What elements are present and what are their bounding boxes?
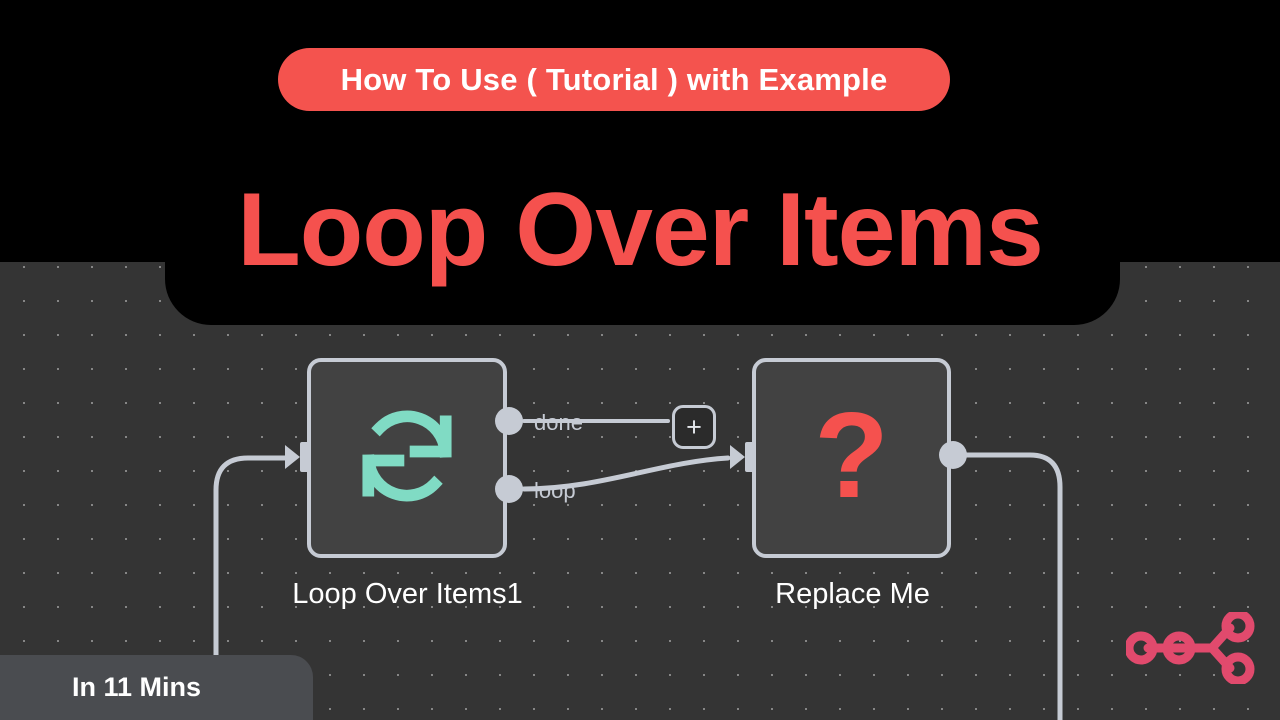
output-port-loop[interactable] — [495, 475, 523, 503]
input-port-loop-node[interactable] — [284, 440, 318, 474]
output-label-done: done — [534, 410, 583, 436]
node-label-replace-me: Replace Me — [750, 578, 955, 611]
loop-refresh-icon — [353, 402, 461, 515]
page-title: Loop Over Items — [0, 178, 1280, 282]
output-port-replace-me[interactable] — [939, 441, 967, 469]
question-mark-icon: ? — [814, 398, 889, 514]
input-port-replace-me[interactable] — [729, 440, 763, 474]
output-port-done[interactable] — [495, 407, 523, 435]
n8n-logo-icon — [1126, 612, 1262, 684]
duration-badge-text: In 11 Mins — [72, 672, 201, 703]
node-label-loop-over-items: Loop Over Items1 — [265, 578, 550, 611]
subtitle-text: How To Use ( Tutorial ) with Example — [341, 62, 888, 98]
add-node-button[interactable]: + — [672, 405, 716, 449]
wire-replace-out[interactable] — [963, 455, 1060, 720]
output-label-loop: loop — [534, 478, 576, 504]
subtitle-pill: How To Use ( Tutorial ) with Example — [278, 48, 950, 111]
duration-badge: In 11 Mins — [0, 655, 313, 720]
node-loop-over-items[interactable] — [307, 358, 507, 558]
node-replace-me[interactable]: ? — [752, 358, 951, 558]
